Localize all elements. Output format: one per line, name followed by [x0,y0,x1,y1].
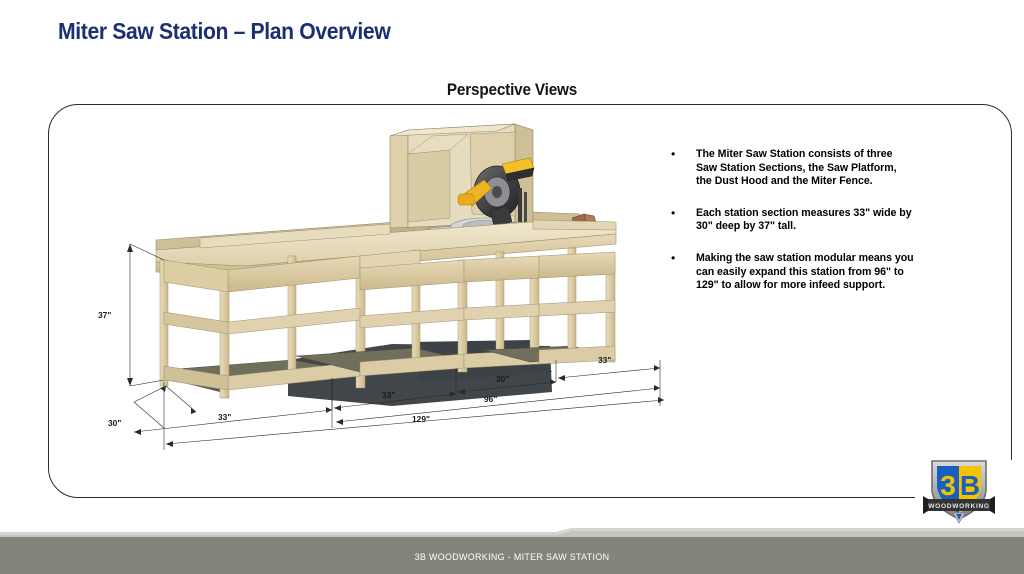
dim-section-b: 33" [382,390,395,400]
logo-letter-b: B [960,470,980,501]
bullet-icon: • [668,252,696,266]
note-text: Each station section measures 33" wide b… [696,207,914,234]
bullet-icon: • [668,207,696,221]
brand-logo: 3 B WOODWORKING [920,455,998,527]
bullet-icon: • [668,148,696,162]
dim-overall-short: 96" [484,394,497,404]
perspective-drawing: 37" 30" 33" 33" 30" 33" 96" 129" [60,110,680,490]
section-heading: Perspective Views [51,80,973,100]
dim-depth: 30" [108,418,121,428]
slide-canvas: Miter Saw Station – Plan Overview Perspe… [0,0,1024,574]
notes-list: • The Miter Saw Station consists of thre… [668,148,928,311]
logo-banner-text: WOODWORKING [928,503,990,510]
dim-overall-long: 129" [412,414,430,424]
note-text: Making the saw station modular means you… [696,252,914,293]
dim-section-d: 33" [598,355,611,365]
page-title: Miter Saw Station – Plan Overview [58,18,390,45]
list-item: • The Miter Saw Station consists of thre… [668,148,928,189]
list-item: • Making the saw station modular means y… [668,252,928,293]
dim-section-c: 30" [496,374,509,384]
list-item: • Each station section measures 33" wide… [668,207,928,234]
note-text: The Miter Saw Station consists of three … [696,148,914,189]
dim-section-a: 33" [218,412,231,422]
logo-letter-3: 3 [940,470,956,501]
footer-text: 3B WOODWORKING - MITER SAW STATION [36,552,988,563]
dim-height: 37" [98,310,111,320]
